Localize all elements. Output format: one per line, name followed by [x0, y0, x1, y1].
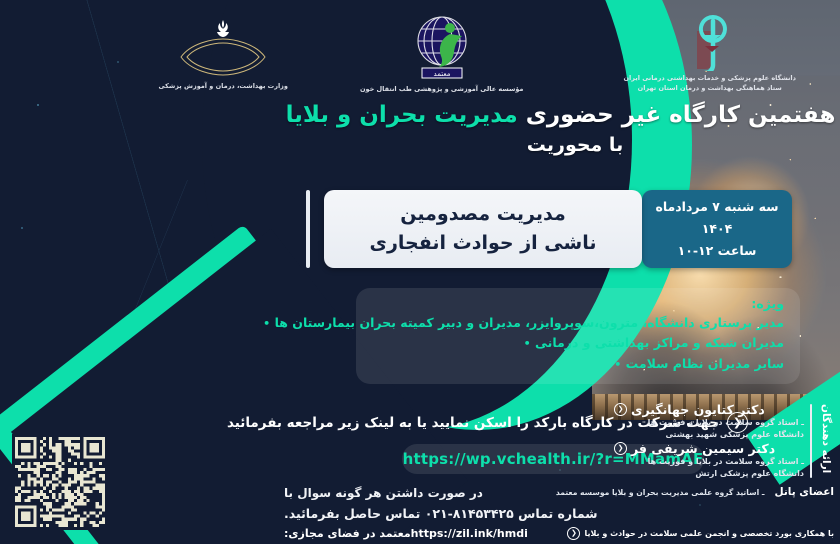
workshop-poster: دانشگاه علوم پزشکی و خدمات بهداشتی درمان…	[0, 0, 840, 544]
presenters-divider	[810, 404, 812, 478]
audience-item-text: سایر مدیران نظام سلامت	[626, 356, 784, 371]
panel-members-text: ـ اساتید گروه علمی مدیریت بحران و بلایا …	[556, 488, 765, 497]
audience-item-text: مدیران شبکه و مراکز بهداشتی و درمانی	[535, 335, 784, 350]
title-line-2: با محوریت	[340, 134, 810, 156]
title-prefix: هفتمین کارگاه غیر حضوری	[526, 102, 836, 128]
presenter-affiliation-1: ـ استاد گروه سلامت در بلایا و فوریت ها	[614, 456, 804, 468]
schedule-topic-row: سه شنبه ۷ مردادماه ۱۴۰۴ ساعت ۱۲-۱۰ مدیری…	[306, 190, 806, 268]
presenter-name: دکتر سیمین شریفی فر	[631, 441, 775, 456]
chevron-left-icon: ❮	[567, 527, 580, 540]
bullet-icon: •	[263, 317, 270, 330]
presenter-affiliation-1: ـ استاد گروه سلامت در بلایا و فوریت ها	[614, 417, 804, 429]
audience-item: مدیران شبکه و مراکز بهداشتی و درمانی •	[372, 333, 784, 353]
presenter-name: دکتر کتایون جهانگیری	[631, 402, 765, 417]
schedule-date: سه شنبه ۷ مردادماه ۱۴۰۴	[650, 196, 784, 240]
audience-item: سایر مدیران نظام سلامت •	[372, 354, 784, 374]
bullet-icon: •	[614, 358, 621, 371]
presenter-item: ❮ دکتر کتایون جهانگیری ـ استاد گروه سلام…	[614, 402, 804, 441]
qr-code-icon[interactable]	[12, 434, 108, 530]
bullet-icon: •	[524, 337, 531, 350]
presenter-affiliation-2: دانشگاه علوم پزشکی شهید بهشتی	[614, 429, 804, 441]
cooperation-text: با همکاری بورد تخصصی و انجمن علمی سلامت …	[584, 529, 834, 538]
presenters-side-label: ارائه دهندگان	[816, 402, 834, 473]
speakers-panel: ارائه دهندگان ❮ دکتر کتایون جهانگیری ـ ا…	[608, 398, 840, 544]
iums-logo-caption: دانشگاه علوم پزشکی و خدمات بهداشتی درمان…	[623, 74, 796, 93]
iums-logo: دانشگاه علوم پزشکی و خدمات بهداشتی درمان…	[623, 15, 796, 93]
panel-members-row: اعضای پانل ـ اساتید گروه علمی مدیریت بحر…	[612, 483, 834, 501]
cooperation-note: ❮ با همکاری بورد تخصصی و انجمن علمی سلام…	[567, 527, 834, 540]
schedule-box: سه شنبه ۷ مردادماه ۱۴۰۴ ساعت ۱۲-۱۰	[642, 190, 792, 268]
audience-box: ویژه: مدیر پرستاری دانشگاه، مترون،سوپروا…	[356, 288, 800, 384]
audience-item-text: مدیر پرستاری دانشگاه، مترون،سوپروایزر، م…	[275, 315, 784, 330]
presenter-affiliation-2: دانشگاه علوم پزشکی ارتش	[614, 468, 804, 480]
motamed-logo-icon: معتمد	[406, 14, 478, 82]
presenters-row: ارائه دهندگان ❮ دکتر کتایون جهانگیری ـ ا…	[612, 402, 834, 480]
ministry-logo: وزارت بهداشت، درمان و آموزش پزشکی	[159, 17, 288, 91]
topic-line-2: ناشی از حوادث انفجاری	[370, 229, 597, 258]
ministry-logo-icon	[163, 17, 283, 79]
iums-logo-icon	[683, 15, 737, 71]
logo-row: دانشگاه علوم پزشکی و خدمات بهداشتی درمان…	[0, 0, 840, 108]
title-emphasis: مدیریت بحران و بلایا	[286, 102, 518, 128]
topic-accent-bar	[306, 190, 310, 268]
social-url[interactable]: https://zil.ink/hmdi	[411, 525, 528, 543]
motamed-logo-caption: مؤسسه عالی آموزشی و پژوهشی طب انتقال خون	[360, 85, 523, 94]
topic-line-1: مدیریت مصدومین	[400, 200, 565, 229]
svg-text:معتمد: معتمد	[433, 70, 450, 78]
presenter-item: ❮ دکتر سیمین شریفی فر ـ استاد گروه سلامت…	[614, 441, 804, 480]
title-line-1: ❮ هفتمین کارگاه غیر حضوری مدیریت بحران و…	[340, 102, 810, 128]
presenter-name-row: ❮ دکتر سیمین شریفی فر	[614, 441, 804, 456]
chevron-left-icon: ❮	[614, 403, 627, 416]
ministry-logo-caption: وزارت بهداشت، درمان و آموزش پزشکی	[159, 82, 288, 91]
panel-members-label: اعضای پانل	[774, 486, 834, 498]
poster-title: ❮ هفتمین کارگاه غیر حضوری مدیریت بحران و…	[340, 102, 810, 156]
presenter-name-row: ❮ دکتر کتایون جهانگیری	[614, 402, 804, 417]
topic-box: مدیریت مصدومین ناشی از حوادث انفجاری	[324, 190, 642, 268]
audience-heading: ویژه:	[372, 296, 784, 311]
presenters-list: ❮ دکتر کتایون جهانگیری ـ استاد گروه سلام…	[612, 402, 804, 480]
schedule-time: ساعت ۱۲-۱۰	[678, 240, 757, 262]
motamed-logo: معتمد مؤسسه عالی آموزشی و پژوهشی طب انتق…	[360, 14, 523, 94]
audience-item: مدیر پرستاری دانشگاه، مترون،سوپروایزر، م…	[372, 313, 784, 333]
social-label: معتمد در فضای مجازی:	[284, 527, 411, 540]
chevron-left-icon: ❮	[614, 442, 627, 455]
